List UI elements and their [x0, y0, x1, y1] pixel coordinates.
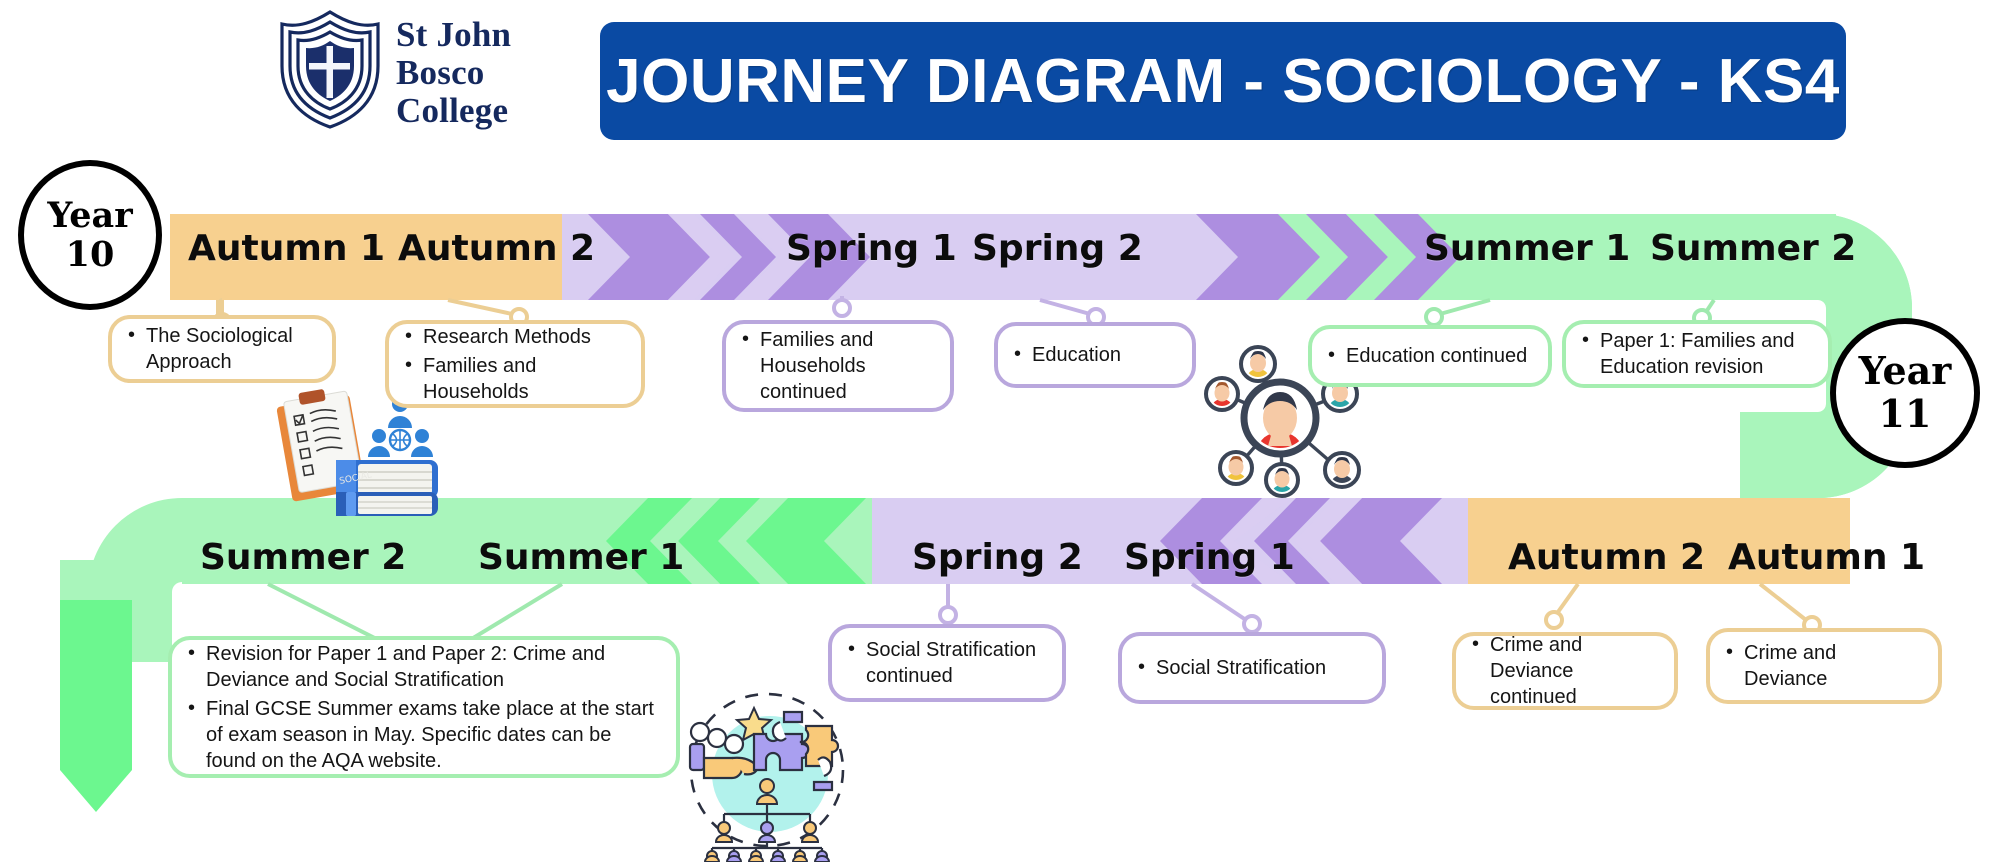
callout-item: Revision for Paper 1 and Paper 2: Crime …	[182, 641, 660, 693]
callout-y10-spring-2[interactable]: Education	[994, 322, 1196, 388]
connector-line-y10-su1	[1440, 300, 1490, 314]
callout-item: Crime and Deviance continued	[1466, 632, 1658, 710]
callout-item: Families and Households	[399, 353, 625, 405]
journey-diagram-page: St John Bosco College JOURNEY DIAGRAM - …	[0, 0, 2000, 862]
callout-item: Education continued	[1322, 343, 1532, 369]
year-10-badge: Year 10	[18, 160, 162, 310]
connector-line-y10-s2	[1040, 300, 1090, 314]
callout-item: Social Stratification	[1132, 655, 1366, 681]
year-10-label-line2: 10	[66, 235, 115, 274]
connector-line-y11-a1	[1760, 584, 1806, 620]
callout-y10-autumn-2[interactable]: Research Methods Families and Households	[385, 320, 645, 408]
callout-item: Paper 1: Families and Education revision	[1576, 328, 1812, 380]
callout-y10-summer-2[interactable]: Paper 1: Families and Education revision	[1562, 320, 1832, 388]
connector-node-y10-su1	[1426, 309, 1442, 325]
year-11-label-line2: 11	[1879, 393, 1932, 436]
callout-item: Research Methods	[399, 324, 625, 350]
connector-line-y10-a2	[448, 300, 512, 314]
connector-node-y11-a2	[1546, 612, 1562, 628]
callout-item: Families and Households continued	[736, 327, 934, 405]
callout-y11-spring-1[interactable]: Social Stratification	[1118, 632, 1386, 704]
callout-item: Final GCSE Summer exams take place at th…	[182, 696, 660, 774]
year-11-badge: Year 11	[1830, 318, 1980, 468]
connector-node-y10-s1	[834, 300, 850, 316]
callout-y10-summer-1[interactable]: Education continued	[1308, 325, 1552, 387]
callout-y10-spring-1[interactable]: Families and Households continued	[722, 320, 954, 412]
callout-item: The Sociological Approach	[122, 323, 316, 375]
connector-line-y11-s1	[1192, 584, 1246, 620]
callout-item: Crime and Deviance	[1720, 640, 1922, 692]
callout-y11-autumn-1[interactable]: Crime and Deviance	[1706, 628, 1942, 704]
connector-line-y11-a2	[1558, 584, 1578, 612]
social-stratification-illustration	[672, 682, 862, 862]
callout-item: Education	[1008, 342, 1176, 368]
callout-y11-spring-2[interactable]: Social Stratification continued	[828, 624, 1066, 702]
callout-y10-autumn-1[interactable]: The Sociological Approach	[108, 315, 336, 383]
year-10-label-line1: Year	[47, 196, 132, 235]
year-11-label-line1: Year	[1859, 350, 1952, 393]
callout-y11-summer-combined[interactable]: Revision for Paper 1 and Paper 2: Crime …	[168, 636, 680, 778]
connector-node-y11-s2	[940, 607, 956, 623]
callout-y11-autumn-2[interactable]: Crime and Deviance continued	[1452, 632, 1678, 710]
connector-node-y11-s1	[1244, 616, 1260, 632]
callout-item: Social Stratification continued	[842, 637, 1046, 689]
